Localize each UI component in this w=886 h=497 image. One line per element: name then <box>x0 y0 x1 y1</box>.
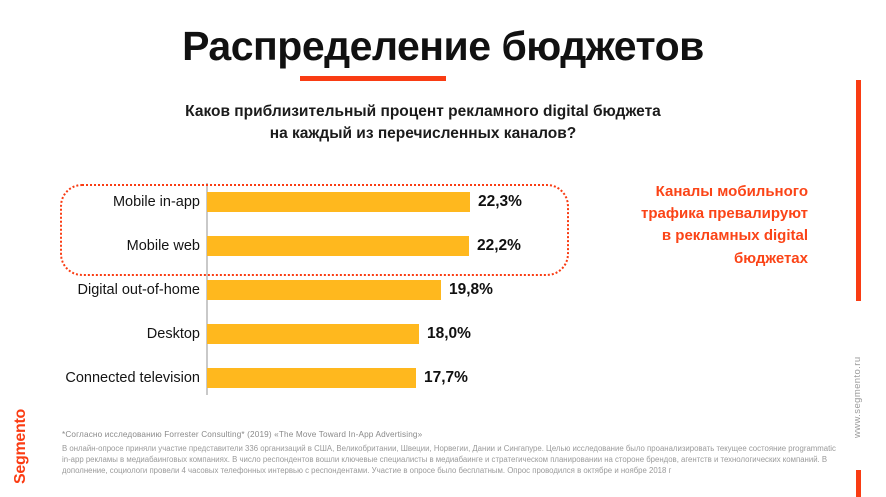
bar-fill <box>207 324 419 344</box>
bar-track: 22,3% <box>207 183 577 221</box>
bar-value-label: 22,3% <box>478 183 522 221</box>
page-title: Распределение бюджетов <box>0 24 886 69</box>
chart-row: Connected television 17,7% <box>57 359 577 397</box>
bar-fill <box>207 236 469 256</box>
page-subtitle: Каков приблизительный процент рекламного… <box>93 101 753 146</box>
bar-value-label: 19,8% <box>449 271 493 309</box>
footnote-source: *Согласно исследованию Forrester Consult… <box>62 430 762 439</box>
segmento-logo: Segmento <box>8 398 30 488</box>
bar-value-label: 18,0% <box>427 315 471 353</box>
callout-line-1: Каналы мобильного <box>596 181 808 203</box>
chart-row: Desktop 18,0% <box>57 315 577 353</box>
bar-fill <box>207 280 441 300</box>
bar-category-label: Mobile in-app <box>57 183 200 221</box>
website-url-text: www.segmento.ru <box>852 356 863 438</box>
insight-callout: Каналы мобильного трафика превалируют в … <box>596 181 808 270</box>
bar-category-label: Digital out-of-home <box>57 271 200 309</box>
bar-value-label: 22,2% <box>477 227 521 265</box>
bar-category-label: Desktop <box>57 315 200 353</box>
bar-fill <box>207 368 416 388</box>
bar-track: 22,2% <box>207 227 577 265</box>
right-edge-accent-bar <box>856 80 861 301</box>
subtitle-line-2: на каждый из перечисленных каналов? <box>93 123 753 145</box>
subtitle-line-1: Каков приблизительный процент рекламного… <box>93 101 753 123</box>
callout-line-4: бюджетах <box>596 248 808 270</box>
bar-value-label: 17,7% <box>424 359 468 397</box>
chart-row: Mobile in-app 22,3% <box>57 183 577 221</box>
chart-row: Digital out-of-home 19,8% <box>57 271 577 309</box>
segmento-logo-text: Segmento <box>12 409 30 484</box>
website-url: www.segmento.ru <box>846 330 868 440</box>
right-edge-accent-bar-small <box>856 470 861 497</box>
bar-track: 17,7% <box>207 359 577 397</box>
chart-row: Mobile web 22,2% <box>57 227 577 265</box>
slide-canvas: Распределение бюджетов Каков приблизител… <box>0 0 886 497</box>
bar-category-label: Mobile web <box>57 227 200 265</box>
bar-track: 18,0% <box>207 315 577 353</box>
callout-line-2: трафика превалируют <box>596 203 808 225</box>
bar-category-label: Connected television <box>57 359 200 397</box>
callout-line-3: в рекламных digital <box>596 225 808 247</box>
bar-fill <box>207 192 470 212</box>
bar-track: 19,8% <box>207 271 577 309</box>
footnote-body: В онлайн-опросе приняли участие представ… <box>62 443 837 476</box>
budget-distribution-bar-chart: Mobile in-app 22,3% Mobile web 22,2% Dig… <box>57 183 577 395</box>
title-underline-rule <box>300 76 446 81</box>
